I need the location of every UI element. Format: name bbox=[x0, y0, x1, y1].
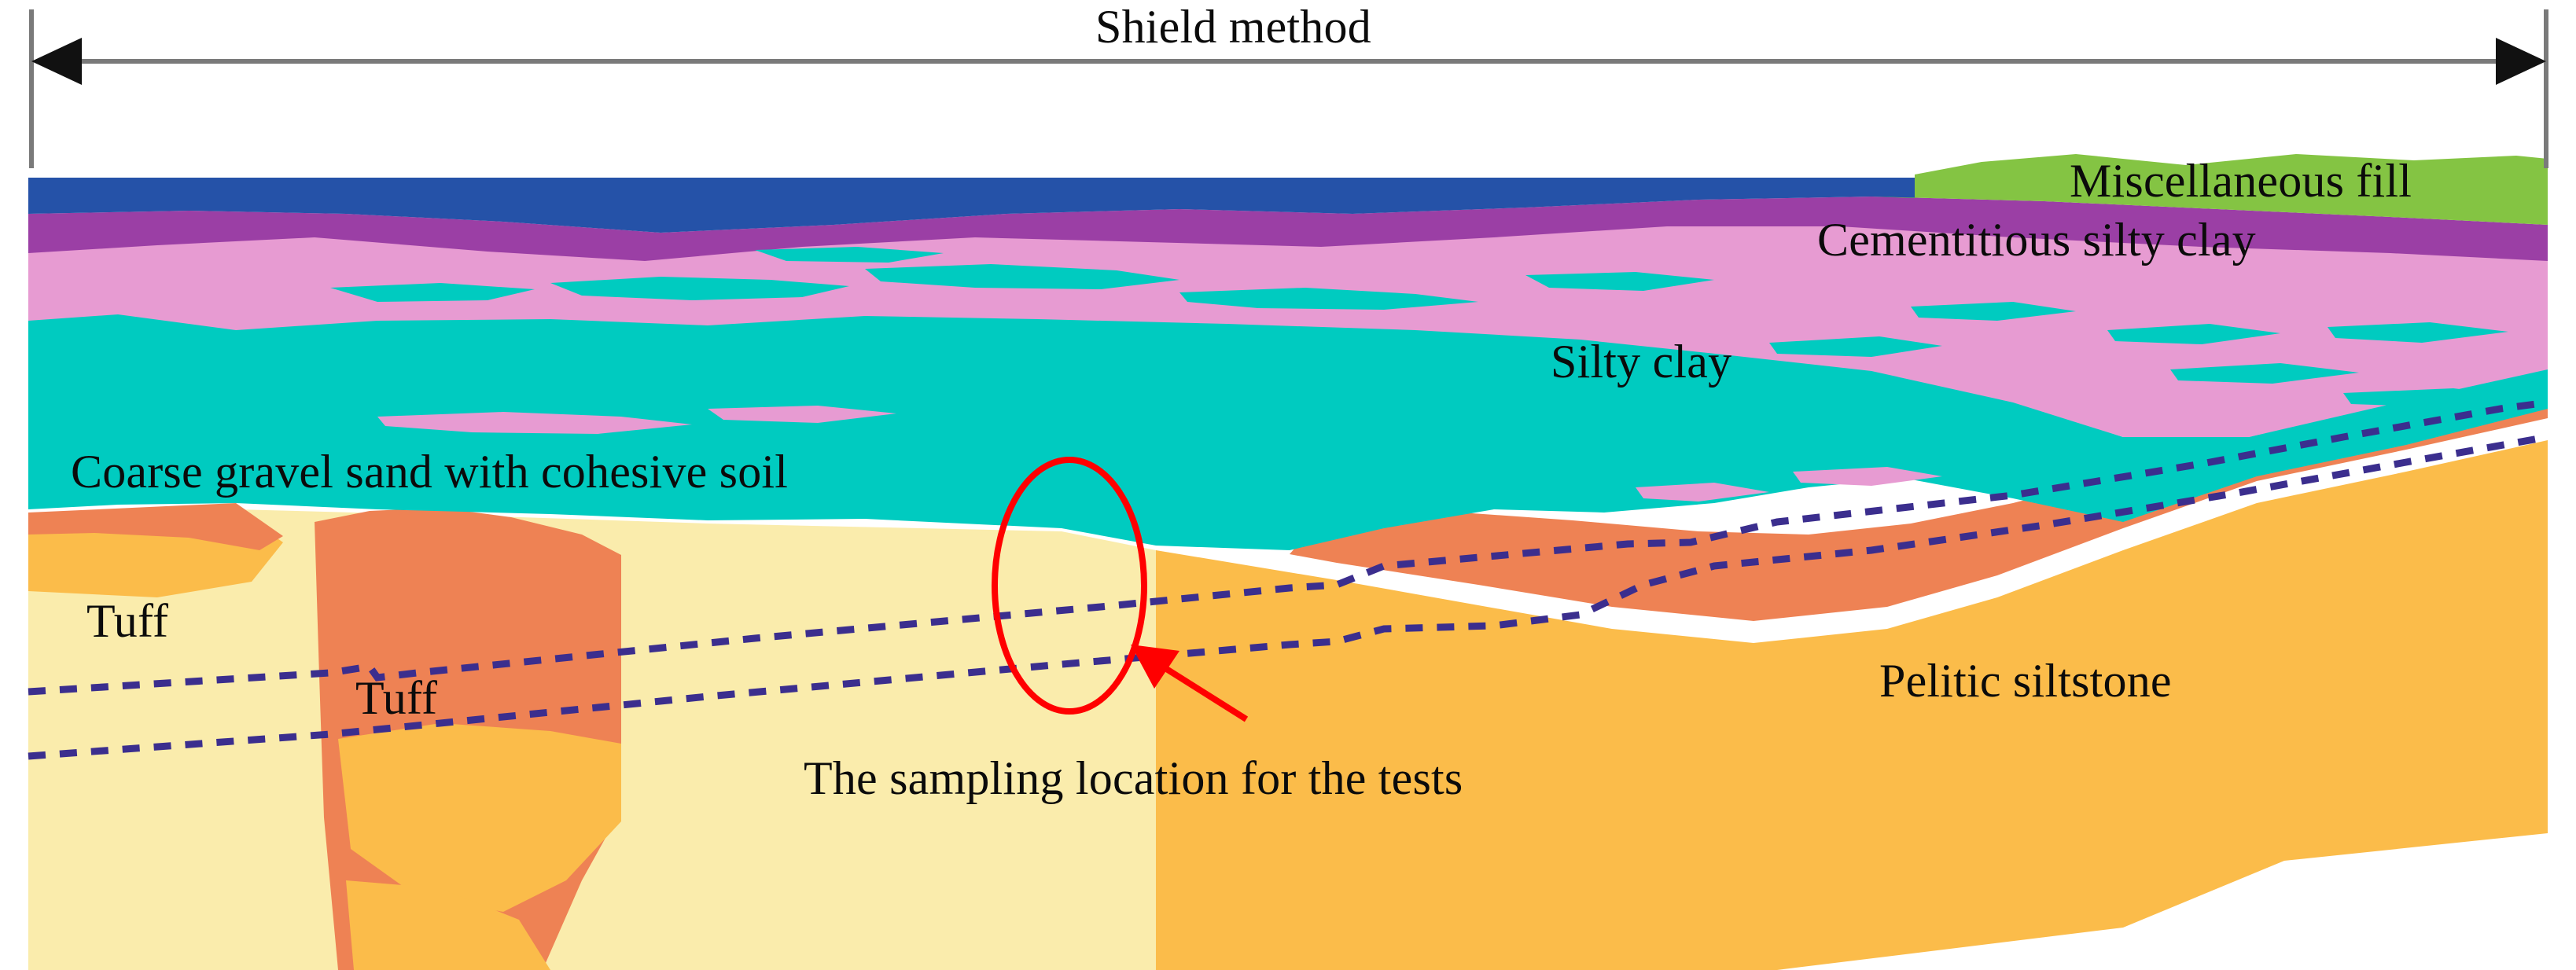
label-tuff-mid: Tuff bbox=[355, 674, 437, 722]
label-silty-clay: Silty clay bbox=[1551, 338, 1731, 385]
page-title: Shield method bbox=[1095, 3, 1371, 50]
dimension-arrowhead-left bbox=[31, 38, 82, 85]
label-coarse-gravel-sand: Coarse gravel sand with cohesive soil bbox=[71, 448, 788, 495]
label-sampling-location: The sampling location for the tests bbox=[804, 755, 1463, 802]
label-cementitious-silty-clay: Cementitious silty clay bbox=[1817, 216, 2256, 263]
dimension-arrowhead-right bbox=[2496, 38, 2546, 85]
geological-cross-section: Shield method Miscellaneous fill Cementi… bbox=[0, 0, 2576, 970]
strata-group bbox=[28, 154, 2548, 970]
label-pelitic-siltstone: Pelitic siltstone bbox=[1879, 657, 2172, 704]
label-miscellaneous-fill: Miscellaneous fill bbox=[2070, 157, 2412, 204]
label-tuff-left: Tuff bbox=[86, 597, 168, 645]
